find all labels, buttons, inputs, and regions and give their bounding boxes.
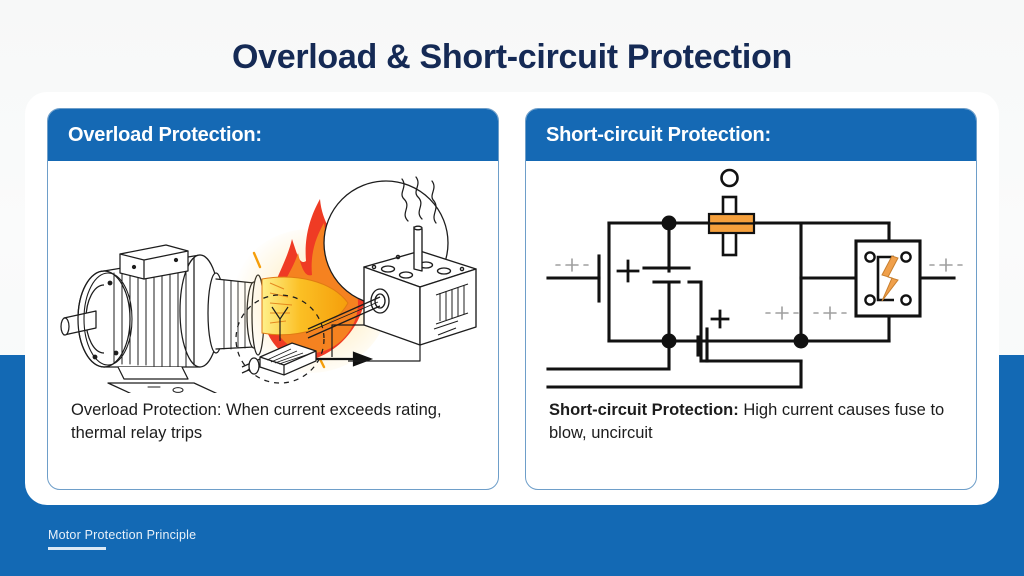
footer-underline bbox=[48, 547, 106, 550]
caption-overload: Overload Protection: When current exceed… bbox=[71, 399, 482, 446]
card-header-label: Short-circuit Protection: bbox=[546, 124, 771, 147]
caption-short-circuit: Short-circuit Protection: High current c… bbox=[549, 399, 960, 446]
footer-label: Motor Protection Principle bbox=[48, 528, 196, 542]
junction-dot bbox=[794, 334, 809, 349]
fuse-circuit-schematic bbox=[526, 161, 976, 393]
card-overload-protection: Overload Protection: bbox=[47, 108, 499, 490]
card-body-overload: Overload Protection: When current exceed… bbox=[48, 161, 498, 490]
card-short-circuit-protection: Short-circuit Protection: bbox=[525, 108, 977, 490]
junction-dot bbox=[662, 216, 677, 231]
caption-overload-lead: Overload Protection: bbox=[71, 401, 221, 419]
fuse-symbol bbox=[709, 170, 754, 255]
footer: Motor Protection Principle bbox=[48, 528, 196, 550]
card-body-short-circuit: Short-circuit Protection: High current c… bbox=[526, 161, 976, 490]
card-header-overload: Overload Protection: bbox=[48, 109, 498, 161]
caption-short-circuit-lead: Short-circuit Protection: bbox=[549, 401, 739, 419]
motor-flame-illustration bbox=[48, 161, 498, 393]
junction-dot bbox=[662, 334, 677, 349]
fuse-holder bbox=[856, 241, 920, 316]
card-header-label: Overload Protection: bbox=[68, 124, 262, 147]
page-title: Overload & Short-circuit Protection bbox=[0, 38, 1024, 77]
card-header-short-circuit: Short-circuit Protection: bbox=[526, 109, 976, 161]
